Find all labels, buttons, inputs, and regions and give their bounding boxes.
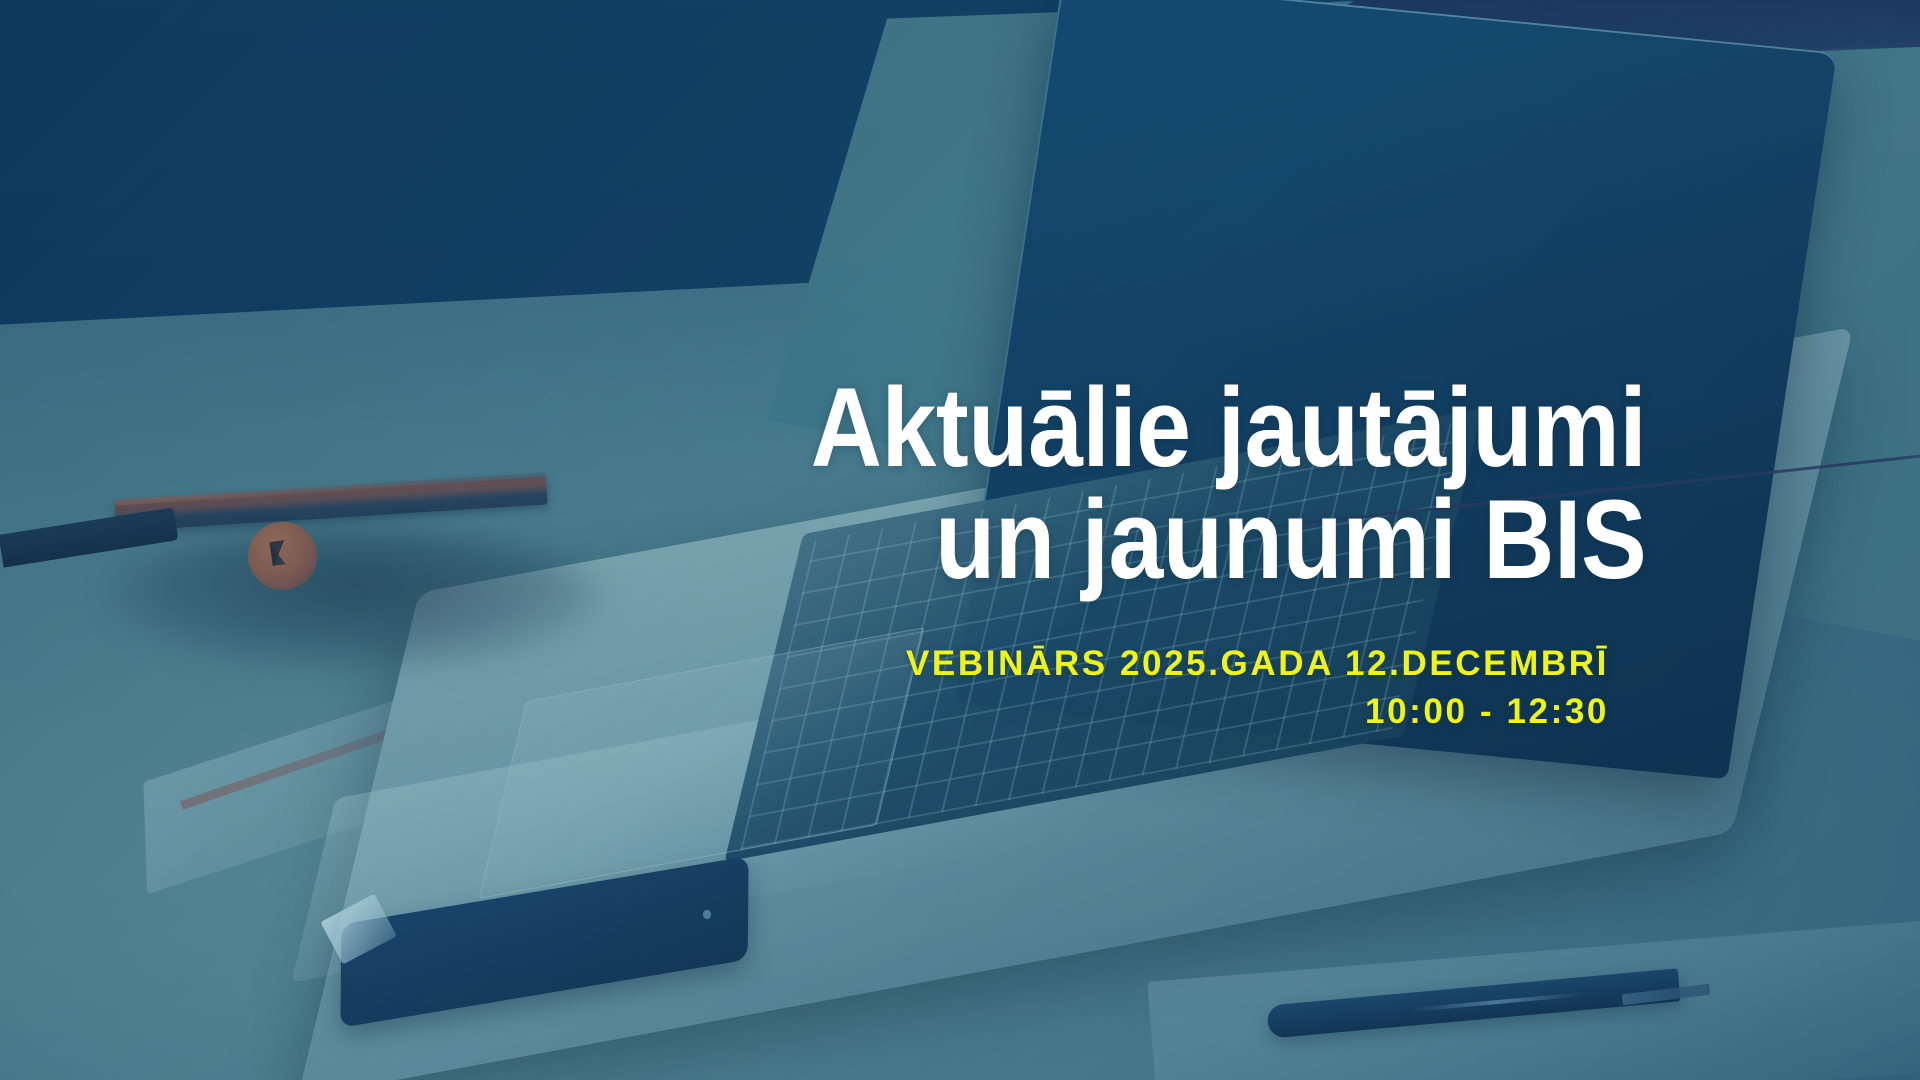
webinar-promo-banner: Aktuālie jautājumi un jaunumi BIS VEBINĀ…: [0, 0, 1920, 1080]
vignette-overlay: [0, 0, 1920, 1080]
background-photo: [0, 0, 1920, 1080]
